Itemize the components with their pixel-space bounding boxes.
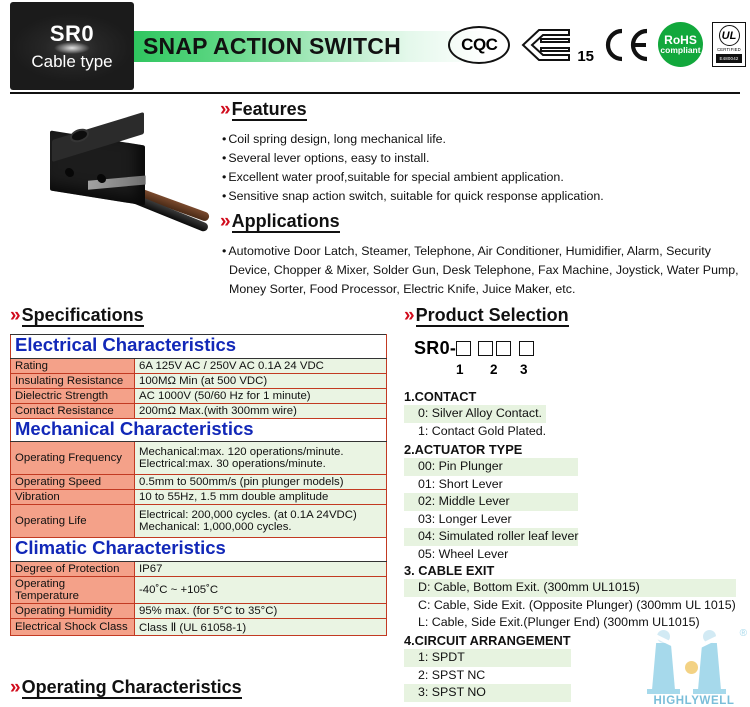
- badge-subtitle: Cable type: [31, 53, 112, 70]
- list-item: Several lever options, easy to install.: [222, 149, 742, 168]
- group-title: Electrical Characteristics: [11, 335, 387, 359]
- row-value: 100MΩ Min (at 500 VDC): [135, 373, 387, 388]
- part-number-diagram: SR0-: [414, 338, 534, 359]
- row-key: Degree of Protection: [11, 562, 135, 577]
- row-value-line1: Electrical: 200,000 cycles. (at 0.1A 24V…: [139, 509, 382, 521]
- watermark-foot-right: [693, 689, 726, 694]
- table-row: Operating Humidity 95% max. (for 5°C to …: [11, 604, 387, 619]
- row-value: 0.5mm to 500mm/s (pin plunger models): [135, 475, 387, 490]
- group-title: Climatic Characteristics: [11, 538, 387, 562]
- row-key: Operating Life: [11, 505, 135, 538]
- row-value-line2: Mechanical: 1,000,000 cycles.: [139, 521, 382, 533]
- applications-heading-label: Applications: [232, 212, 340, 233]
- position-label-3: 3: [520, 362, 528, 377]
- row-key: Electrical Shock Class: [11, 619, 135, 636]
- row-value: 200mΩ Max.(with 300mm wire): [135, 403, 387, 418]
- product-series-badge: SR0 Cable type: [10, 2, 134, 90]
- list-item: Excellent water proof,suitable for speci…: [222, 168, 742, 187]
- row-key: Operating Humidity: [11, 604, 135, 619]
- row-value: 6A 125V AC / 250V AC 0.1A 24 VDC: [135, 358, 387, 373]
- row-value: Electrical: 200,000 cycles. (at 0.1A 24V…: [135, 505, 387, 538]
- enec-icon: 15: [519, 25, 594, 65]
- applications-list: Automotive Door Latch, Steamer, Telephon…: [222, 242, 742, 299]
- registered-trademark-icon: ®: [740, 628, 747, 639]
- option-item[interactable]: 02: Middle Lever: [404, 493, 578, 511]
- option-item[interactable]: 1: SPDT: [404, 649, 571, 667]
- part-number-box-1[interactable]: [456, 341, 471, 356]
- option-item[interactable]: 01: Short Lever: [404, 476, 578, 494]
- ul-icon: UL CERTIFIED E480042: [712, 22, 746, 67]
- chevron-right-icon: »: [404, 306, 415, 325]
- row-value: 95% max. (for 5°C to 35°C): [135, 604, 387, 619]
- row-key: Contact Resistance: [11, 403, 135, 418]
- group-title: 1.CONTACT: [404, 388, 546, 405]
- chevron-right-icon: »: [10, 678, 21, 697]
- selection-group-cable-exit: 3. CABLE EXIT D: Cable, Bottom Exit. (30…: [404, 562, 736, 632]
- watermark-leg-right: [698, 643, 721, 690]
- page-title: SNAP ACTION SWITCH: [143, 33, 401, 60]
- group-title: Mechanical Characteristics: [11, 418, 387, 442]
- table-group-header: Electrical Characteristics: [11, 335, 387, 359]
- row-value: Class Ⅱ (UL 61058-1): [135, 619, 387, 636]
- row-key: Operating Speed: [11, 475, 135, 490]
- specifications-heading-label: Specifications: [22, 306, 144, 327]
- chevron-right-icon: »: [220, 212, 231, 231]
- ul-file-code: E480042: [716, 54, 742, 63]
- product-selection-label: Product Selection: [416, 306, 569, 327]
- selection-group-contact: 1.CONTACT 0: Silver Alloy Contact. 1: Co…: [404, 388, 546, 440]
- table-row: Dielectric Strength AC 1000V (50/60 Hz f…: [11, 388, 387, 403]
- watermark-leg-left: [652, 643, 675, 690]
- group-title: 2.ACTUATOR TYPE: [404, 441, 578, 458]
- product-selection-heading: » Product Selection: [404, 306, 569, 327]
- row-value: IP67: [135, 562, 387, 577]
- features-list: Coil spring design, long mechanical life…: [222, 130, 742, 206]
- table-row: Operating Life Electrical: 200,000 cycle…: [11, 505, 387, 538]
- row-key: Operating Temperature: [11, 577, 135, 604]
- features-heading: » Features: [220, 100, 307, 121]
- chevron-right-icon: »: [10, 306, 21, 325]
- row-key: Operating Frequency: [11, 442, 135, 475]
- option-item[interactable]: D: Cable, Bottom Exit. (300mm UL1015): [404, 579, 736, 597]
- specifications-table: Electrical Characteristics Rating 6A 125…: [10, 334, 387, 636]
- option-item[interactable]: 00: Pin Plunger: [404, 458, 578, 476]
- option-item[interactable]: 03: Longer Lever: [404, 511, 578, 529]
- part-number-box-3[interactable]: [519, 341, 534, 356]
- chevron-right-icon: »: [220, 100, 231, 119]
- option-item[interactable]: 2: SPST NC: [404, 667, 571, 685]
- ul-certified-label: CERTIFIED: [717, 47, 741, 52]
- product-photo: [22, 112, 217, 247]
- operating-characteristics-label: Operating Characteristics: [22, 678, 242, 699]
- header-divider: [10, 92, 740, 94]
- list-item: Coil spring design, long mechanical life…: [222, 130, 742, 149]
- selection-group-circuit-arrangement: 4.CIRCUIT ARRANGEMENT 1: SPDT 2: SPST NC…: [404, 632, 571, 702]
- cqc-icon: CQC: [448, 26, 510, 64]
- table-row: Degree of Protection IP67: [11, 562, 387, 577]
- row-value: -40˚C ~ +105˚C: [135, 577, 387, 604]
- selection-group-actuator-type: 2.ACTUATOR TYPE 00: Pin Plunger 01: Shor…: [404, 441, 578, 563]
- list-item: Sensitive snap action switch, suitable f…: [222, 187, 742, 206]
- option-item[interactable]: 04: Simulated roller leaf lever: [404, 528, 578, 546]
- row-key: Insulating Resistance: [11, 373, 135, 388]
- badge-title: SR0: [50, 23, 94, 45]
- enec-number: 15: [577, 48, 594, 65]
- table-row: Contact Resistance 200mΩ Max.(with 300mm…: [11, 403, 387, 418]
- row-key: Dielectric Strength: [11, 388, 135, 403]
- row-value: Mechanical:max. 120 operations/minute. E…: [135, 442, 387, 475]
- table-row: Electrical Shock Class Class Ⅱ (UL 61058…: [11, 619, 387, 636]
- option-item[interactable]: 0: Silver Alloy Contact.: [404, 405, 546, 423]
- rohs-icon: RoHS compliant: [658, 22, 703, 67]
- part-number-box-2b[interactable]: [496, 341, 511, 356]
- table-row: Insulating Resistance 100MΩ Min (at 500 …: [11, 373, 387, 388]
- row-key: Rating: [11, 358, 135, 373]
- group-title: 3. CABLE EXIT: [404, 562, 736, 579]
- row-value-line2: Electrical:max. 30 operations/minute.: [139, 458, 382, 470]
- operating-characteristics-heading: » Operating Characteristics: [10, 678, 242, 699]
- certification-logos: CQC 15 RoHS compliant UL: [448, 22, 746, 67]
- specifications-heading: » Specifications: [10, 306, 144, 327]
- part-number-box-2a[interactable]: [478, 341, 493, 356]
- row-value: AC 1000V (50/60 Hz for 1 minute): [135, 388, 387, 403]
- page-header: SR0 Cable type SNAP ACTION SWITCH CQC 15: [0, 0, 750, 95]
- table-row: Rating 6A 125V AC / 250V AC 0.1A 24 VDC: [11, 358, 387, 373]
- ce-icon: [603, 28, 649, 62]
- features-heading-label: Features: [232, 100, 307, 121]
- table-row: Operating Temperature -40˚C ~ +105˚C: [11, 577, 387, 604]
- watermark-text: HIGHLYWELL: [640, 695, 748, 707]
- applications-heading: » Applications: [220, 212, 340, 233]
- table-row: Vibration 10 to 55Hz, 1.5 mm double ampl…: [11, 490, 387, 505]
- option-item[interactable]: C: Cable, Side Exit. (Opposite Plunger) …: [404, 597, 736, 615]
- row-key: Vibration: [11, 490, 135, 505]
- enec-glyph: [519, 25, 575, 65]
- position-label-1: 1: [456, 362, 464, 377]
- option-item[interactable]: 3: SPST NO: [404, 684, 571, 702]
- table-group-header: Mechanical Characteristics: [11, 418, 387, 442]
- option-item[interactable]: 1: Contact Gold Plated.: [404, 423, 546, 441]
- ce-glyph: [603, 28, 649, 62]
- part-number-prefix: SR0-: [414, 338, 456, 359]
- row-value-line1: Mechanical:max. 120 operations/minute.: [139, 446, 382, 458]
- option-item[interactable]: 05: Wheel Lever: [404, 546, 578, 564]
- table-group-header: Climatic Characteristics: [11, 538, 387, 562]
- rohs-label-bottom: compliant: [660, 46, 700, 55]
- ul-mark: UL: [719, 25, 740, 46]
- table-row: Operating Frequency Mechanical:max. 120 …: [11, 442, 387, 475]
- watermark-center-dot: [685, 661, 698, 674]
- table-row: Operating Speed 0.5mm to 500mm/s (pin pl…: [11, 475, 387, 490]
- row-value: 10 to 55Hz, 1.5 mm double amplitude: [135, 490, 387, 505]
- position-label-2: 2: [490, 362, 498, 377]
- highlywell-watermark: ® HIGHLYWELL: [640, 628, 748, 707]
- watermark-foot-left: [647, 689, 680, 694]
- list-item: Automotive Door Latch, Steamer, Telephon…: [222, 242, 742, 299]
- group-title: 4.CIRCUIT ARRANGEMENT: [404, 632, 571, 649]
